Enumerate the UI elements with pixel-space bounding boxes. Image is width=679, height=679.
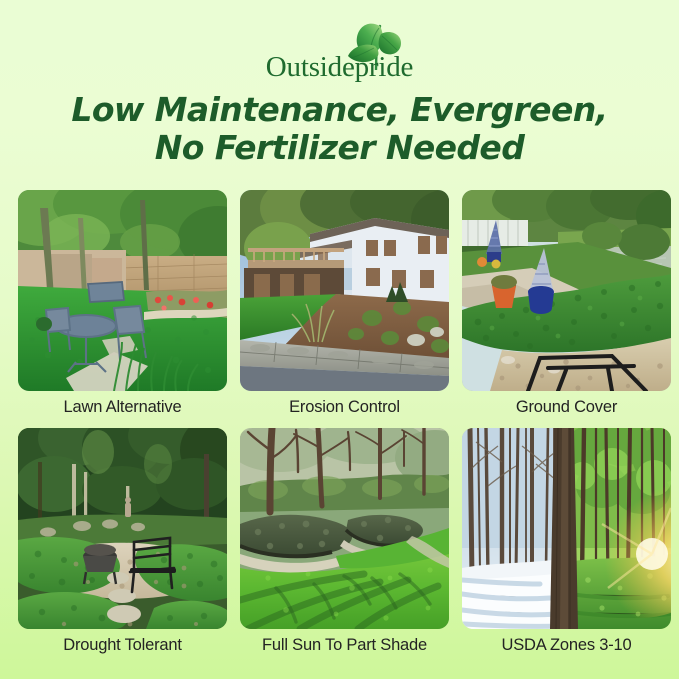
- feature-caption: Lawn Alternative: [18, 397, 227, 418]
- feature-caption: Erosion Control: [240, 397, 449, 418]
- headline-line-2: No Fertilizer Needed: [26, 129, 653, 167]
- feature-cell: Lawn Alternative: [18, 190, 227, 418]
- feature-caption: USDA Zones 3-10: [462, 635, 671, 656]
- feature-caption: Full Sun To Part Shade: [240, 635, 449, 656]
- feature-cell: Full Sun To Part Shade: [240, 428, 449, 656]
- feature-cell: Drought Tolerant: [18, 428, 227, 656]
- feature-cell: USDA Zones 3-10: [462, 428, 671, 656]
- headline-line-1: Low Maintenance, Evergreen,: [26, 91, 653, 129]
- feature-image-full-sun-part-shade: [240, 428, 449, 629]
- feature-image-usda-zones: [462, 428, 671, 629]
- feature-caption: Drought Tolerant: [18, 635, 227, 656]
- feature-image-lawn-alternative: [18, 190, 227, 391]
- feature-grid: Lawn Alternative: [18, 190, 661, 657]
- feature-image-drought-tolerant: [18, 428, 227, 629]
- brand-name: Outsidepride: [240, 53, 440, 82]
- header: Outsidepride Low Maintenance, Evergreen,…: [0, 0, 679, 168]
- feature-image-ground-cover: [462, 190, 671, 391]
- feature-cell: Ground Cover: [462, 190, 671, 418]
- feature-cell: Erosion Control: [240, 190, 449, 418]
- brand-logo: Outsidepride: [240, 10, 440, 90]
- feature-image-erosion-control: [240, 190, 449, 391]
- page-headline: Low Maintenance, Evergreen, No Fertilize…: [0, 91, 679, 168]
- feature-caption: Ground Cover: [462, 397, 671, 418]
